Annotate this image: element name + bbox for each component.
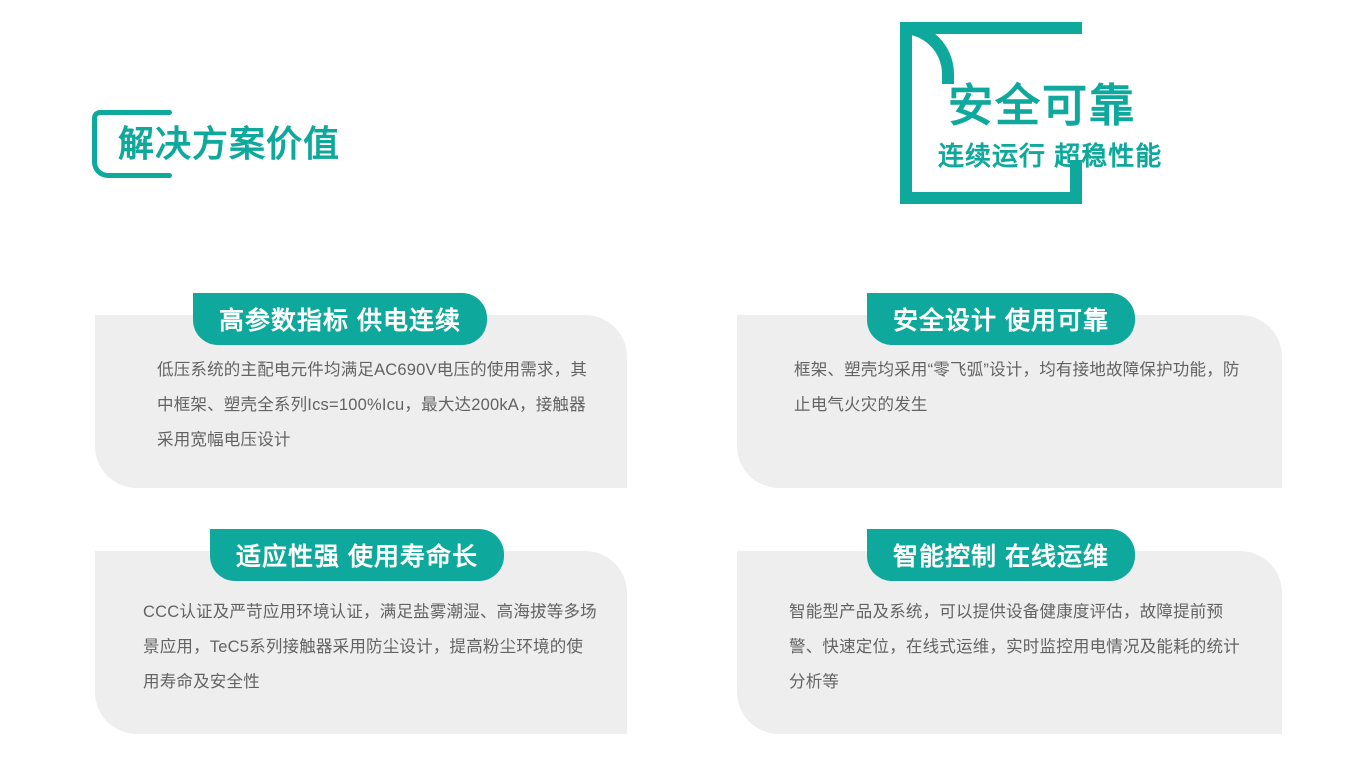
- page-title-block: 解决方案价值: [92, 110, 412, 182]
- feature-card-text: 框架、塑壳均采用“零飞弧”设计，均有接地故障保护功能，防止电气火灾的发生: [794, 353, 1254, 423]
- brand-frame-left-icon: [900, 22, 912, 204]
- page-title: 解决方案价值: [118, 116, 340, 172]
- brand-frame-top-icon: [900, 22, 1082, 34]
- feature-card-text: 智能型产品及系统，可以提供设备健康度评估，故障提前预警、快速定位，在线式运维，实…: [789, 595, 1254, 700]
- feature-card-badge: 智能控制 在线运维: [867, 529, 1135, 581]
- feature-card-badge: 安全设计 使用可靠: [867, 293, 1135, 345]
- feature-card-text: CCC认证及严苛应用环境认证，满足盐雾潮湿、高海拔等多场景应用，TeC5系列接触…: [143, 595, 598, 700]
- brand-frame-bottom-icon: [900, 192, 1082, 204]
- feature-card-badge: 适应性强 使用寿命长: [210, 529, 504, 581]
- feature-card: 智能控制 在线运维 智能型产品及系统，可以提供设备健康度评估，故障提前预警、快速…: [737, 529, 1282, 729]
- brand-badge: 安全可靠 连续运行 超稳性能: [900, 22, 1172, 204]
- feature-card: 高参数指标 供电连续 低压系统的主配电元件均满足AC690V电压的使用需求，其中…: [95, 293, 630, 493]
- brand-subtitle: 连续运行 超稳性能: [938, 140, 1162, 172]
- brand-title: 安全可靠: [948, 80, 1136, 132]
- feature-card-text: 低压系统的主配电元件均满足AC690V电压的使用需求，其中框架、塑壳全系列Ics…: [157, 353, 597, 458]
- feature-card: 适应性强 使用寿命长 CCC认证及严苛应用环境认证，满足盐雾潮湿、高海拔等多场景…: [95, 529, 630, 729]
- feature-card: 安全设计 使用可靠 框架、塑壳均采用“零飞弧”设计，均有接地故障保护功能，防止电…: [737, 293, 1282, 493]
- feature-card-badge: 高参数指标 供电连续: [193, 293, 487, 345]
